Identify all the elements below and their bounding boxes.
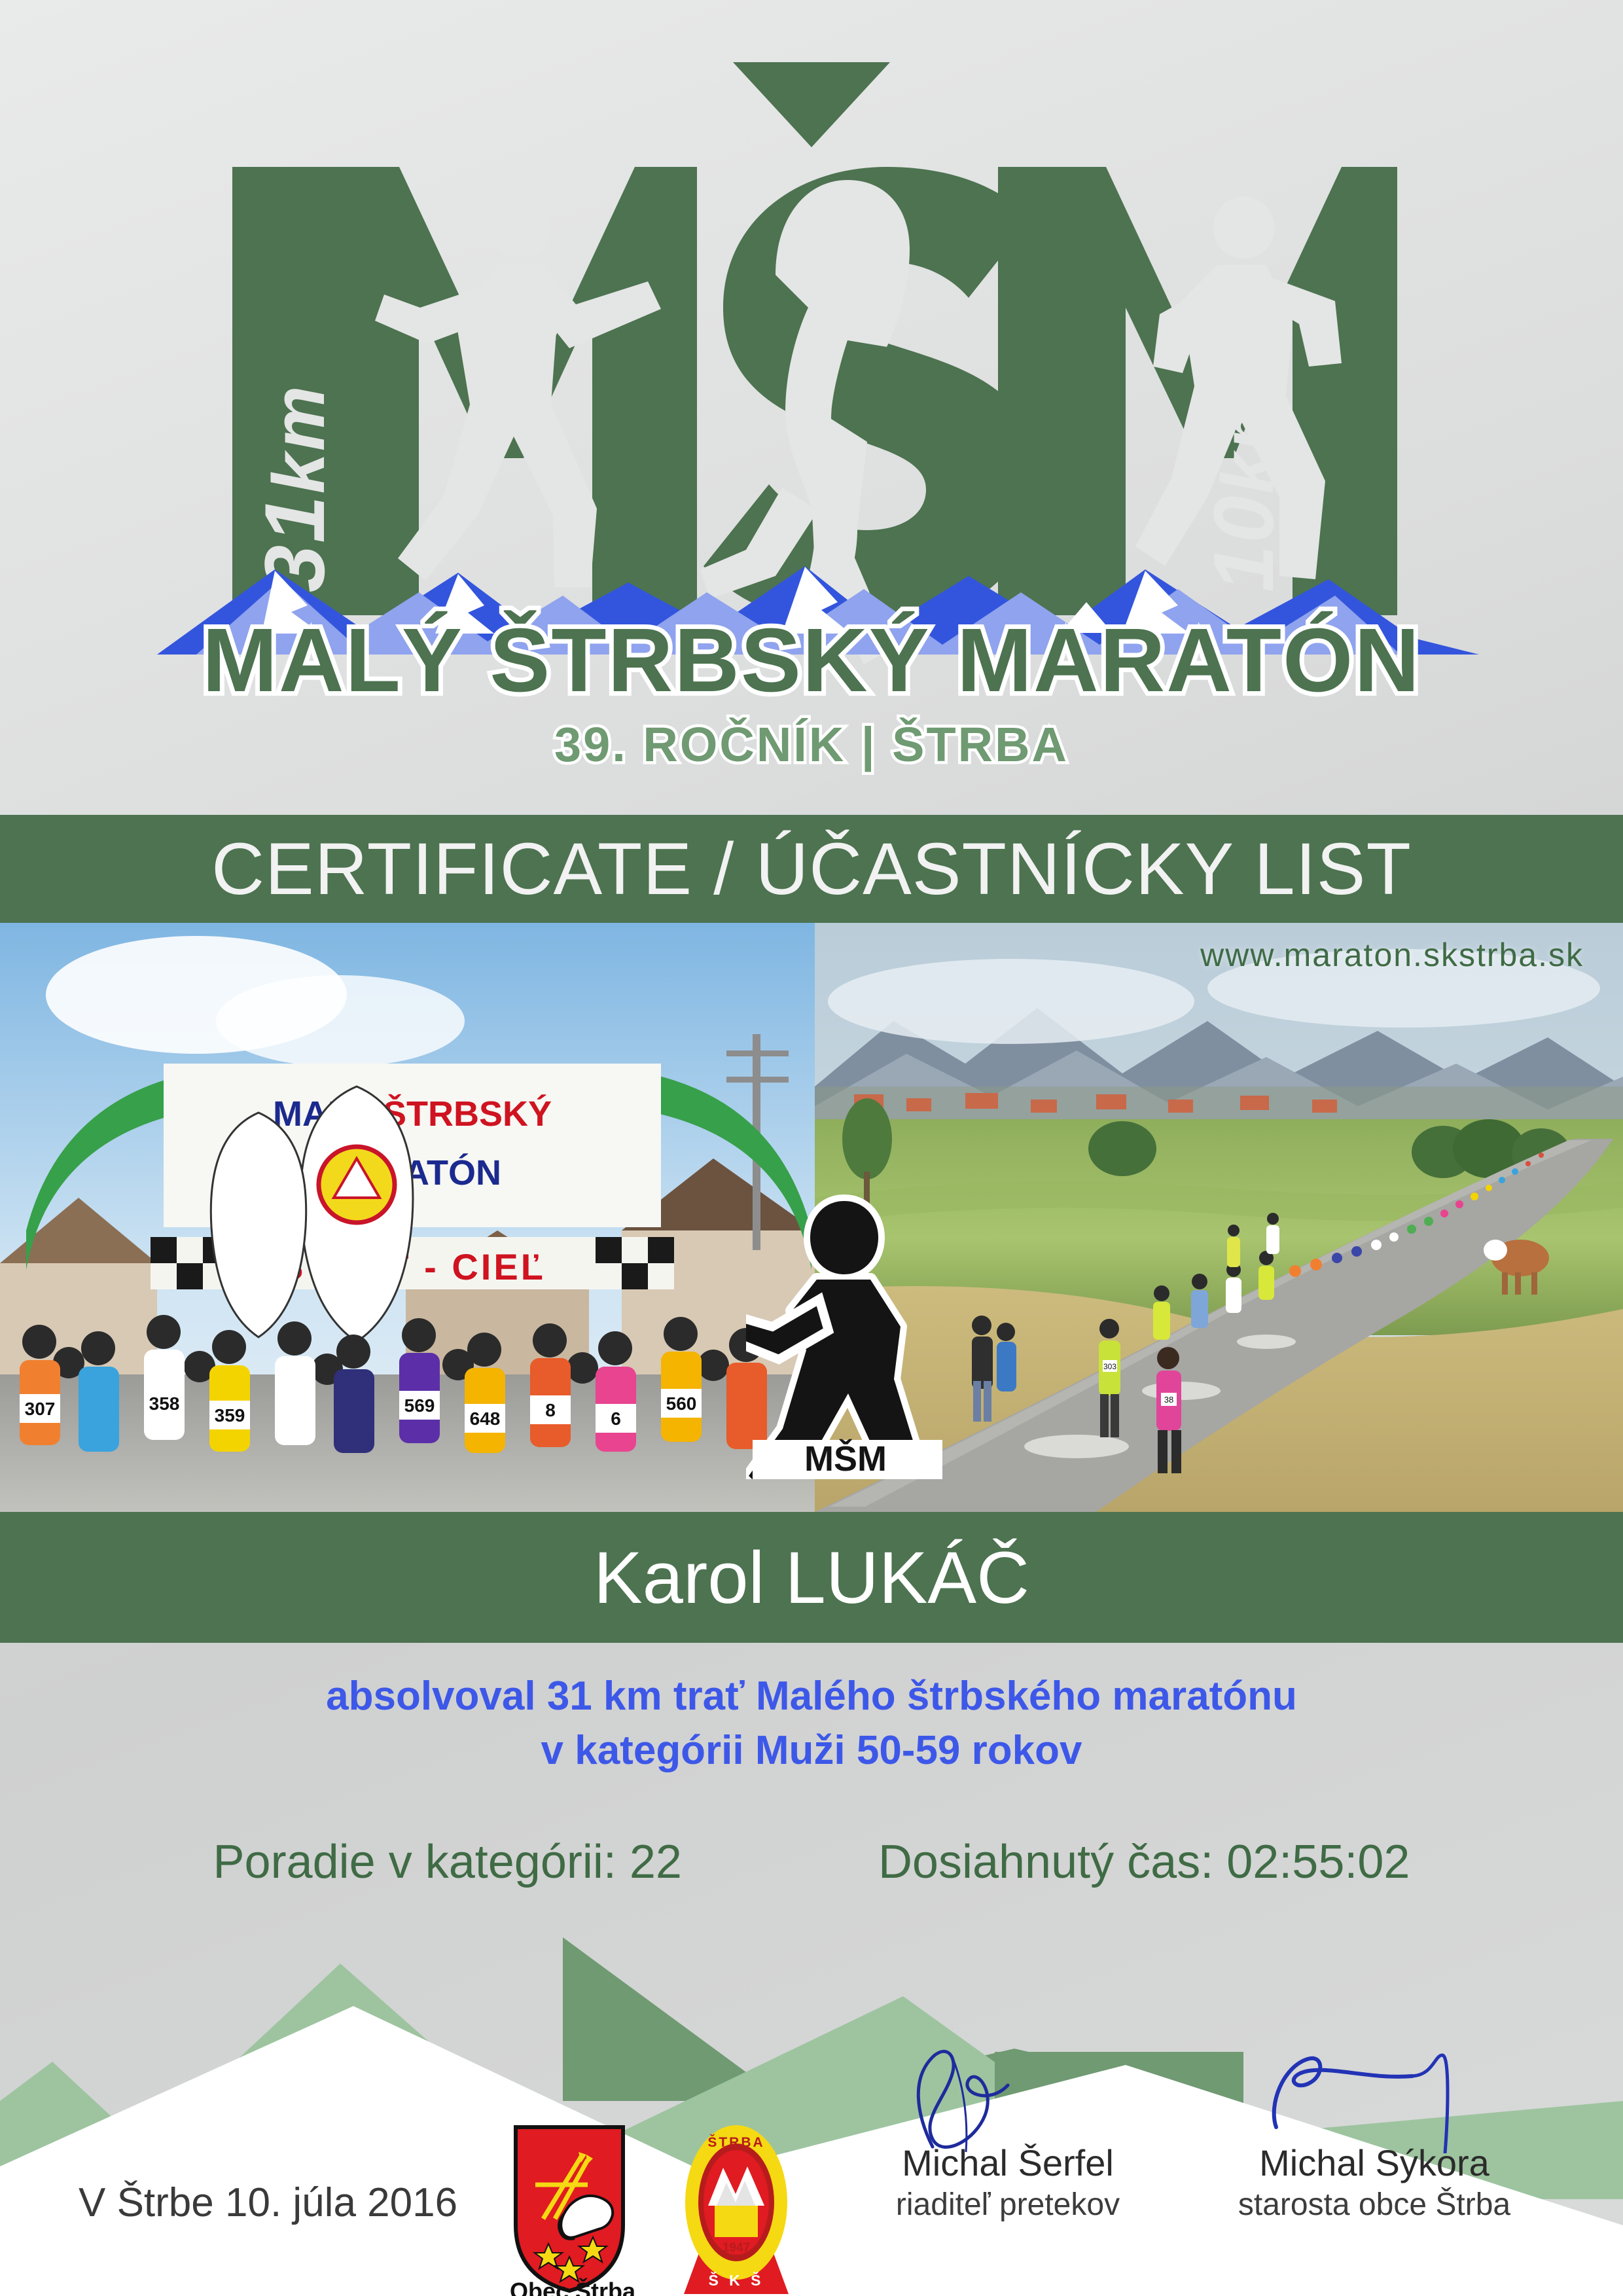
svg-text:31km: 31km xyxy=(247,384,342,592)
signature-block-mayor: Michal Sýkora starosta obce Štrba xyxy=(1204,2081,1544,2223)
certificate-page: 31km xyxy=(0,0,1623,2296)
description-line-1: absolvoval 31 km trať Malého štrbského m… xyxy=(0,1669,1623,1723)
signatory-role: starosta obce Štrba xyxy=(1204,2187,1544,2223)
signatory-name: Michal Šerfel xyxy=(838,2142,1178,2184)
participant-name: Karol LUKÁČ xyxy=(594,1535,1029,1620)
logo-title: MALÝ ŠTRBSKÝ MARATÓN xyxy=(0,609,1623,713)
svg-text:8: 8 xyxy=(545,1400,556,1420)
signature-icon xyxy=(1237,2042,1512,2153)
participant-name-banner: Karol LUKÁČ xyxy=(0,1512,1623,1643)
certificate-title-banner: CERTIFICATE / ÚČASTNÍCKY LIST xyxy=(0,815,1623,923)
description-line-2: v kategórii Muži 50-59 rokov xyxy=(0,1723,1623,1778)
signatory-name: Michal Sýkora xyxy=(1204,2142,1544,2184)
logo-subtitle: 39. ROČNÍK | ŠTRBA xyxy=(0,717,1623,772)
runner-badge-icon: MŠM xyxy=(746,1178,942,1479)
issue-date: V Štrbe 10. júla 2016 xyxy=(79,2179,457,2226)
signature-block-director: Michal Šerfel riaditeľ pretekov xyxy=(838,2081,1178,2223)
start-line-illustration: MALÝ ŠTRBSKÝ MARATÓN ŠTART - CIEĽ xyxy=(0,923,815,1512)
sks-bottom-text: Š K Š xyxy=(708,2271,764,2289)
category-rank: Poradie v kategórii: 22 xyxy=(213,1835,682,1889)
svg-text:38: 38 xyxy=(1164,1395,1173,1405)
photo-start-line: MALÝ ŠTRBSKÝ MARATÓN ŠTART - CIEĽ xyxy=(0,923,815,1512)
sks-club-logo: ŠTRBA 1947 Š K Š xyxy=(668,2121,805,2296)
finish-time: Dosiahnutý čas: 02:55:02 xyxy=(878,1835,1410,1889)
svg-text:303: 303 xyxy=(1103,1362,1116,1371)
svg-text:569: 569 xyxy=(404,1395,435,1416)
website-url: www.maraton.skstrba.sk xyxy=(1200,936,1584,974)
signatory-role: riaditeľ pretekov xyxy=(838,2187,1178,2223)
svg-text:359: 359 xyxy=(215,1405,245,1426)
obec-strba-coat-of-arms xyxy=(504,2121,635,2296)
badge-label: MŠM xyxy=(804,1439,887,1479)
certificate-title: CERTIFICATE / ÚČASTNÍCKY LIST xyxy=(211,827,1412,911)
svg-text:560: 560 xyxy=(666,1393,697,1414)
svg-text:648: 648 xyxy=(470,1408,501,1429)
footer: V Štrbe 10. júla 2016 Obec Štrba xyxy=(0,2081,1623,2296)
svg-text:10km: 10km xyxy=(1196,384,1291,592)
signature-icon xyxy=(870,2042,1145,2153)
event-logo: 31km xyxy=(0,0,1623,792)
sks-top-text: ŠTRBA xyxy=(707,2134,764,2150)
msm-runner-badge: MŠM xyxy=(746,1178,942,1479)
sks-year: 1947 xyxy=(722,2241,750,2255)
results-row: Poradie v kategórii: 22 Dosiahnutý čas: … xyxy=(0,1835,1623,1889)
svg-text:6: 6 xyxy=(611,1408,621,1429)
svg-text:358: 358 xyxy=(149,1393,180,1414)
obec-strba-label: Obec Štrba xyxy=(497,2278,648,2296)
svg-text:307: 307 xyxy=(25,1399,56,1419)
